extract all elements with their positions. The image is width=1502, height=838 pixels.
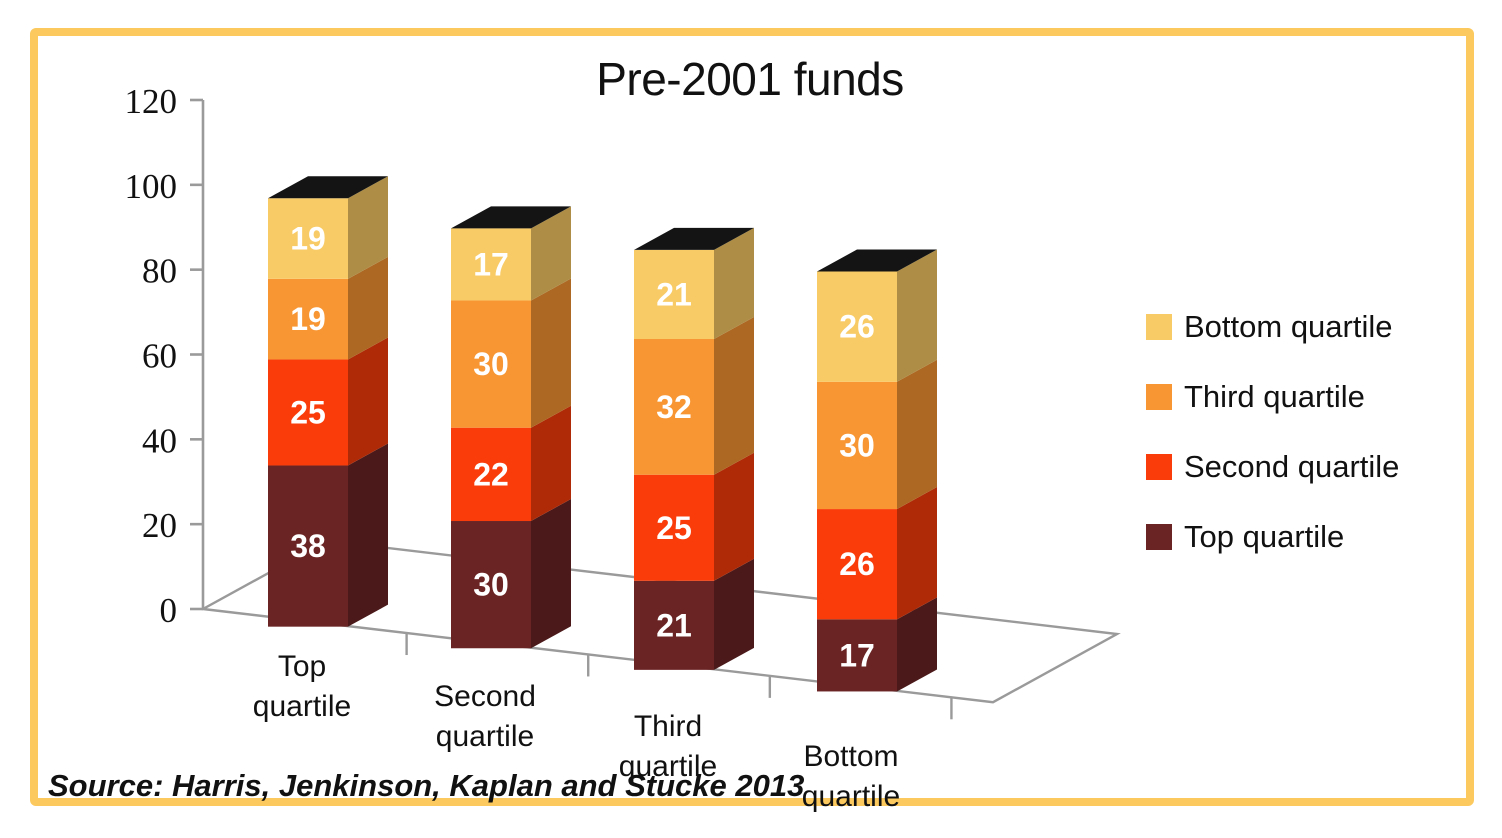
y-axis-tick-label: 100 xyxy=(125,167,178,206)
x-axis-category-label: quartile xyxy=(436,720,534,753)
y-axis-tick-labels: 020406080100120 xyxy=(125,82,178,630)
bar-group: 21253221 xyxy=(634,228,754,670)
bar-value-label: 19 xyxy=(290,301,326,337)
y-axis-tick-label: 40 xyxy=(142,421,177,460)
bar-value-label: 22 xyxy=(473,456,509,492)
bar-group: 38251919 xyxy=(268,176,388,626)
chart-legend: Bottom quartileThird quartileSecond quar… xyxy=(1146,292,1476,572)
legend-swatch-icon xyxy=(1146,524,1172,550)
y-axis-tick-label: 60 xyxy=(142,337,177,376)
chart-image: Pre-2001 funds 3825191930223017212532211… xyxy=(0,0,1502,838)
y-axis-tick-label: 120 xyxy=(125,82,178,121)
bar-value-label: 30 xyxy=(473,567,509,603)
bar-value-label: 21 xyxy=(656,607,692,643)
legend-swatch-icon xyxy=(1146,384,1172,410)
legend-item-label: Second quartile xyxy=(1184,449,1399,485)
legend-item[interactable]: Second quartile xyxy=(1146,432,1476,502)
bar-value-label: 17 xyxy=(839,637,875,673)
bar-value-label: 32 xyxy=(656,389,692,425)
bar-value-label: 17 xyxy=(473,246,509,282)
bar-value-label: 25 xyxy=(290,394,326,430)
source-annotation: Source: Harris, Jenkinson, Kaplan and St… xyxy=(48,768,804,804)
bar-value-label: 30 xyxy=(473,346,509,382)
x-axis-category-label: Bottom xyxy=(803,740,898,773)
legend-item[interactable]: Bottom quartile xyxy=(1146,292,1476,362)
x-axis-category-label: quartile xyxy=(802,780,900,813)
y-axis-tick-label: 0 xyxy=(160,591,178,630)
bar-value-label: 19 xyxy=(290,221,326,257)
bar-value-label: 21 xyxy=(656,276,692,312)
y-axis-tick-label: 20 xyxy=(142,506,177,545)
bar-value-label: 26 xyxy=(839,546,875,582)
bar-value-label: 26 xyxy=(839,309,875,345)
y-axis-tick-label: 80 xyxy=(142,252,177,291)
bar-value-label: 38 xyxy=(290,528,326,564)
legend-swatch-icon xyxy=(1146,314,1172,340)
x-axis-category-label: Third xyxy=(634,710,702,743)
legend-item-label: Bottom quartile xyxy=(1184,309,1393,345)
bar-group: 17263026 xyxy=(817,250,937,692)
bar-value-label: 30 xyxy=(839,427,875,463)
bar-value-label: 25 xyxy=(656,510,692,546)
legend-item[interactable]: Third quartile xyxy=(1146,362,1476,432)
x-axis-category-label: Top xyxy=(278,650,326,683)
legend-item-label: Top quartile xyxy=(1184,519,1344,555)
legend-swatch-icon xyxy=(1146,454,1172,480)
legend-item-label: Third quartile xyxy=(1184,379,1365,415)
bar-group: 30223017 xyxy=(451,206,571,648)
x-axis-category-label: quartile xyxy=(253,690,351,723)
x-axis-category-label: Second xyxy=(434,680,536,713)
legend-item[interactable]: Top quartile xyxy=(1146,502,1476,572)
axis-layer xyxy=(190,100,203,609)
